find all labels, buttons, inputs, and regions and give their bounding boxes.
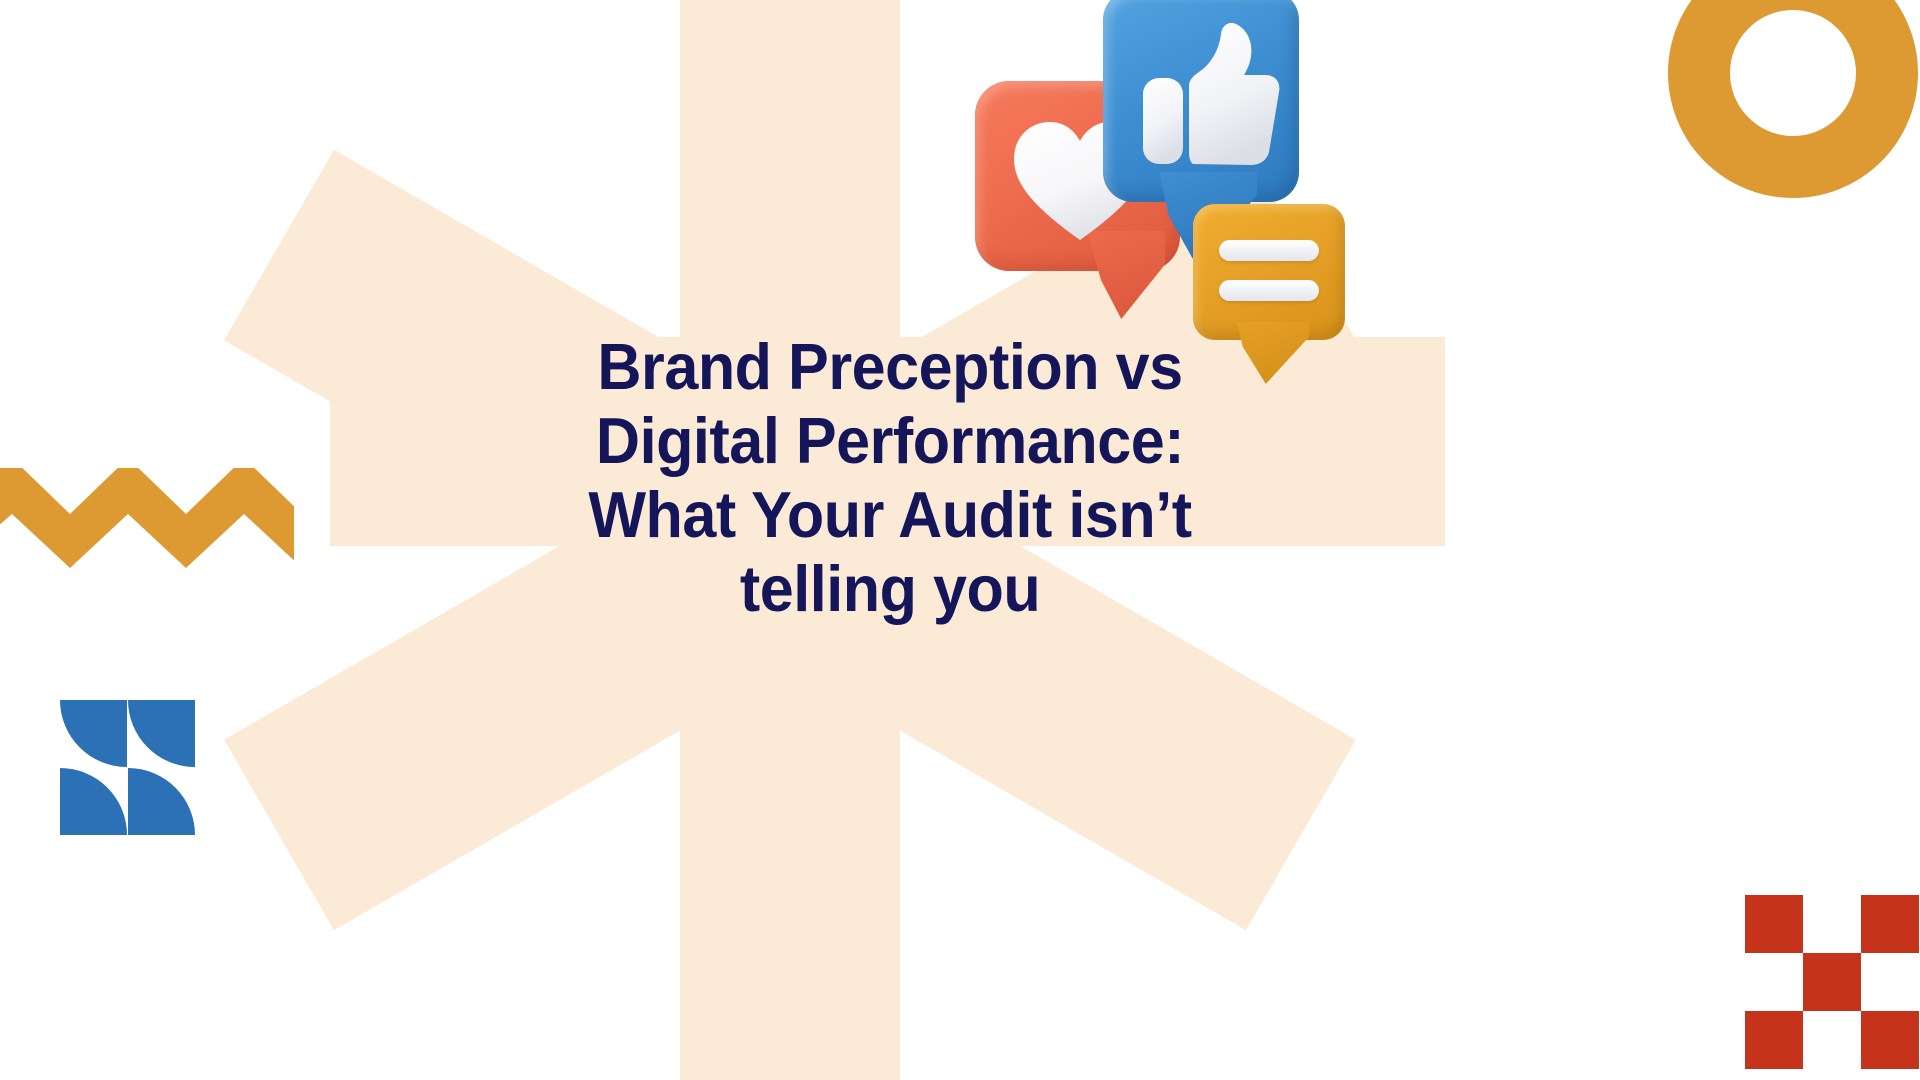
like-reaction-bubble (1103, 0, 1299, 202)
checker-cell (1745, 1011, 1803, 1069)
bubble-tail (1087, 231, 1165, 319)
checker-cell (1861, 953, 1919, 1011)
comment-reaction-bubble (1193, 204, 1345, 340)
orange-ring-shape (1668, 0, 1918, 198)
pinwheel-petal (60, 768, 127, 835)
reaction-emoji-cluster (965, 0, 1385, 386)
checker-cell (1745, 895, 1803, 953)
red-checkerboard-shape (1745, 895, 1919, 1069)
pinwheel-petal (60, 700, 127, 767)
comment-line-icon (1219, 240, 1319, 261)
pinwheel-petal (128, 768, 195, 835)
checker-cell (1803, 1011, 1861, 1069)
blue-pinwheel-shape (60, 700, 195, 835)
checker-cell (1803, 895, 1861, 953)
orange-zigzag-shape (0, 468, 294, 596)
pinwheel-petal (128, 700, 195, 767)
checker-cell (1861, 895, 1919, 953)
slide-canvas: Brand Preception vs Digital Performance:… (0, 0, 1920, 1080)
checker-cell (1745, 953, 1803, 1011)
thumbs-up-icon (1141, 20, 1281, 170)
checker-cell (1861, 1011, 1919, 1069)
comment-line-icon (1219, 280, 1319, 301)
checker-cell (1803, 953, 1861, 1011)
bubble-tail (1237, 322, 1309, 384)
